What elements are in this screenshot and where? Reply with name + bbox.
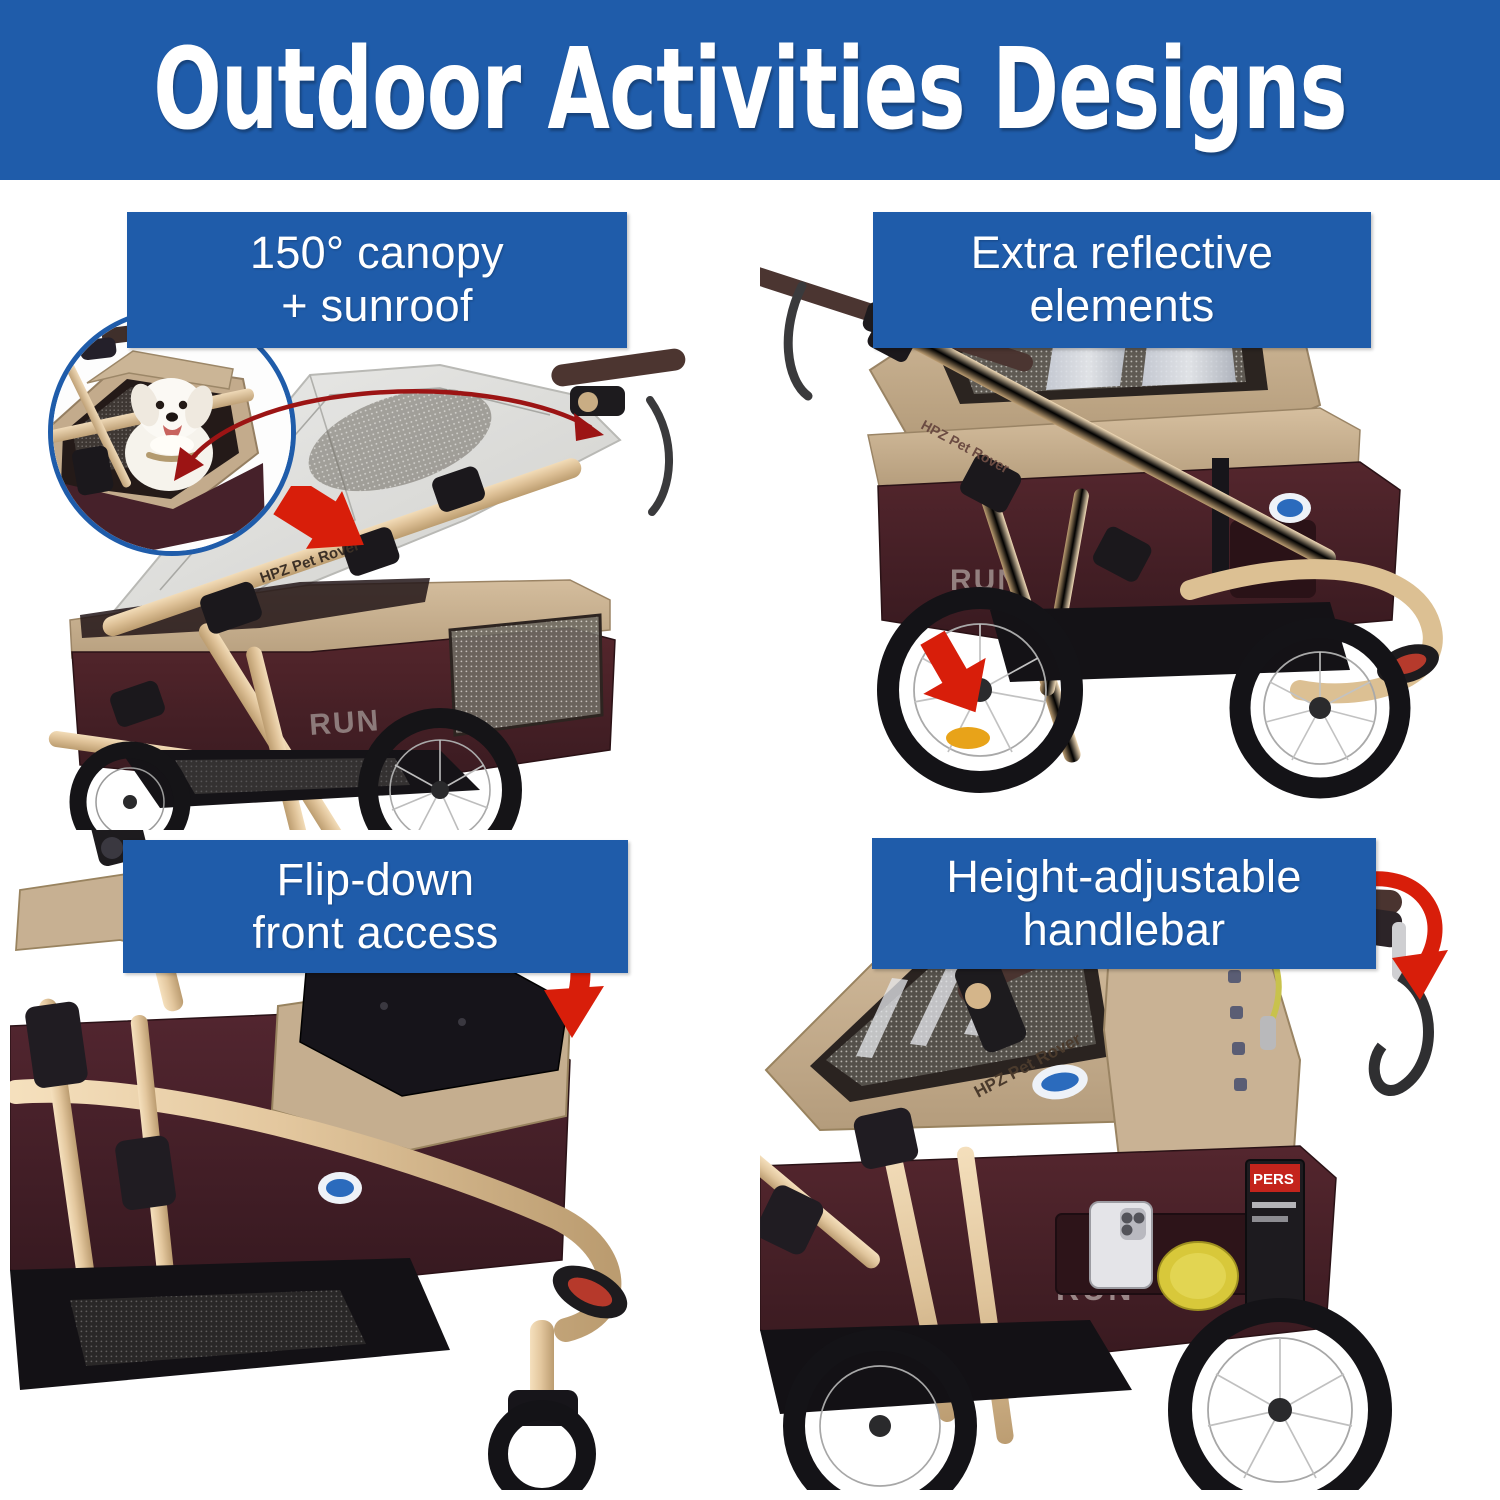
caption-flip-down-front: Flip-down front access xyxy=(123,840,628,973)
caption-line-2: front access xyxy=(252,907,498,960)
canopy-swing-arrow-icon xyxy=(160,365,620,485)
infographic-page: Outdoor Activities Designs xyxy=(0,0,1500,1500)
caption-line-1: Flip-down xyxy=(277,854,475,907)
wheel-reflector-arrow-icon xyxy=(912,628,1008,720)
caption-line-1: 150° canopy xyxy=(250,227,504,280)
wrist-strap xyxy=(788,286,808,396)
wrist-strap xyxy=(650,400,669,512)
caption-line-2: elements xyxy=(1030,280,1215,333)
wheel-reflector xyxy=(946,727,990,749)
front-wheel xyxy=(1180,1310,1380,1490)
svg-text:PERS: PERS xyxy=(1253,1171,1294,1188)
caption-canopy-sunroof: 150° canopy + sunroof xyxy=(127,212,627,348)
front-wheel xyxy=(1240,628,1400,788)
caption-line-2: handlebar xyxy=(1023,904,1226,957)
caption-reflective-elements: Extra reflective elements xyxy=(873,212,1371,348)
canopy-pointer-arrow-icon xyxy=(272,486,377,574)
caption-line-1: Extra reflective xyxy=(971,227,1273,280)
caption-adjustable-handlebar: Height-adjustable handlebar xyxy=(872,838,1376,969)
page-title: Outdoor Activities Designs xyxy=(153,34,1347,146)
caption-line-1: Height-adjustable xyxy=(946,851,1301,904)
caption-line-2: + sunroof xyxy=(281,280,473,333)
header-banner: Outdoor Activities Designs xyxy=(0,0,1500,180)
svg-text:RUN: RUN xyxy=(308,704,381,742)
